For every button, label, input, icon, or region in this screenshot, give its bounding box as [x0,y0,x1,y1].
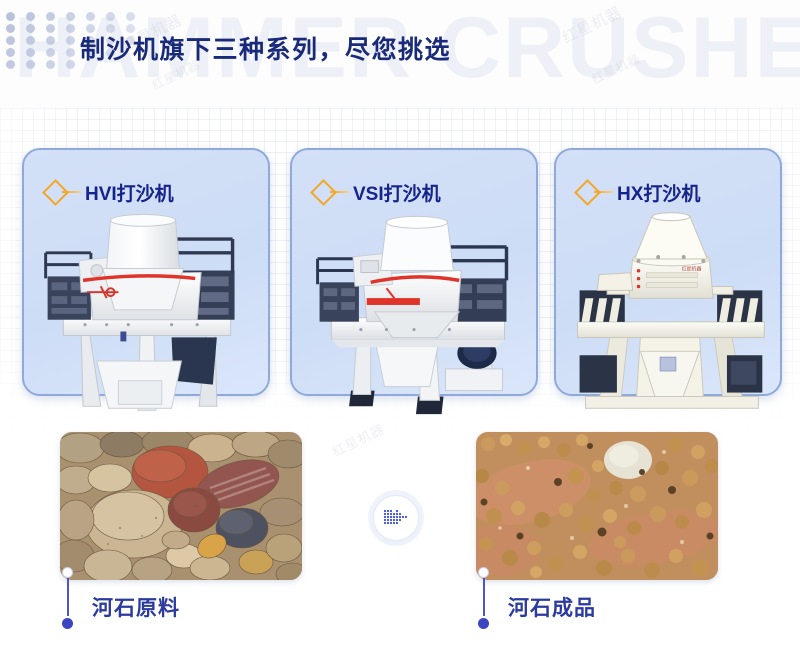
page-header: HAMMER CRUSHER 红星机器 红星机器 红星机器 红星机器 制沙机旗下… [0,0,800,108]
card-label-text: HX打沙机 [617,179,700,206]
pin-line [67,572,69,616]
hx-sand-maker-icon: 红星机器 [556,210,780,425]
card-label-text: HVI打沙机 [85,179,174,206]
product-card-hvi[interactable]: HVI打沙机 [22,148,270,396]
diamond-marker-icon [574,179,601,206]
page-title: 制沙机旗下三种系列，尽您挑选 [80,30,451,66]
pin-bottom-dot-icon [62,618,73,629]
photo-caption: 河石成品 [508,592,596,622]
card-label-text: VSI打沙机 [353,179,441,206]
caption-pin [61,567,75,629]
pin-bottom-dot-icon [478,618,489,629]
card-label: VSI打沙机 [314,178,441,206]
caption-pin [477,567,491,629]
river-pebbles-photo [60,432,302,580]
product-card-hx[interactable]: HX打沙机 [554,148,782,396]
card-label: HVI打沙机 [46,178,174,206]
vsi-sand-maker-icon [292,210,536,425]
promo-page: HAMMER CRUSHER 红星机器 红星机器 红星机器 红星机器 制沙机旗下… [0,0,800,648]
diamond-marker-icon [310,179,337,206]
svg-text:红星机器: 红星机器 [682,266,702,273]
card-label: HX打沙机 [578,178,700,206]
pin-top-dot-icon [478,567,489,578]
photo-caption: 河石原料 [92,592,180,622]
vsi-sand-maker-icon [24,210,268,425]
crushed-sand-photo [476,432,718,580]
diamond-marker-icon [42,179,69,206]
product-card-vsi[interactable]: VSI打沙机 [290,148,538,396]
pin-top-dot-icon [62,567,73,578]
dotted-arrow-right-icon [373,495,419,541]
pin-line [483,572,485,616]
